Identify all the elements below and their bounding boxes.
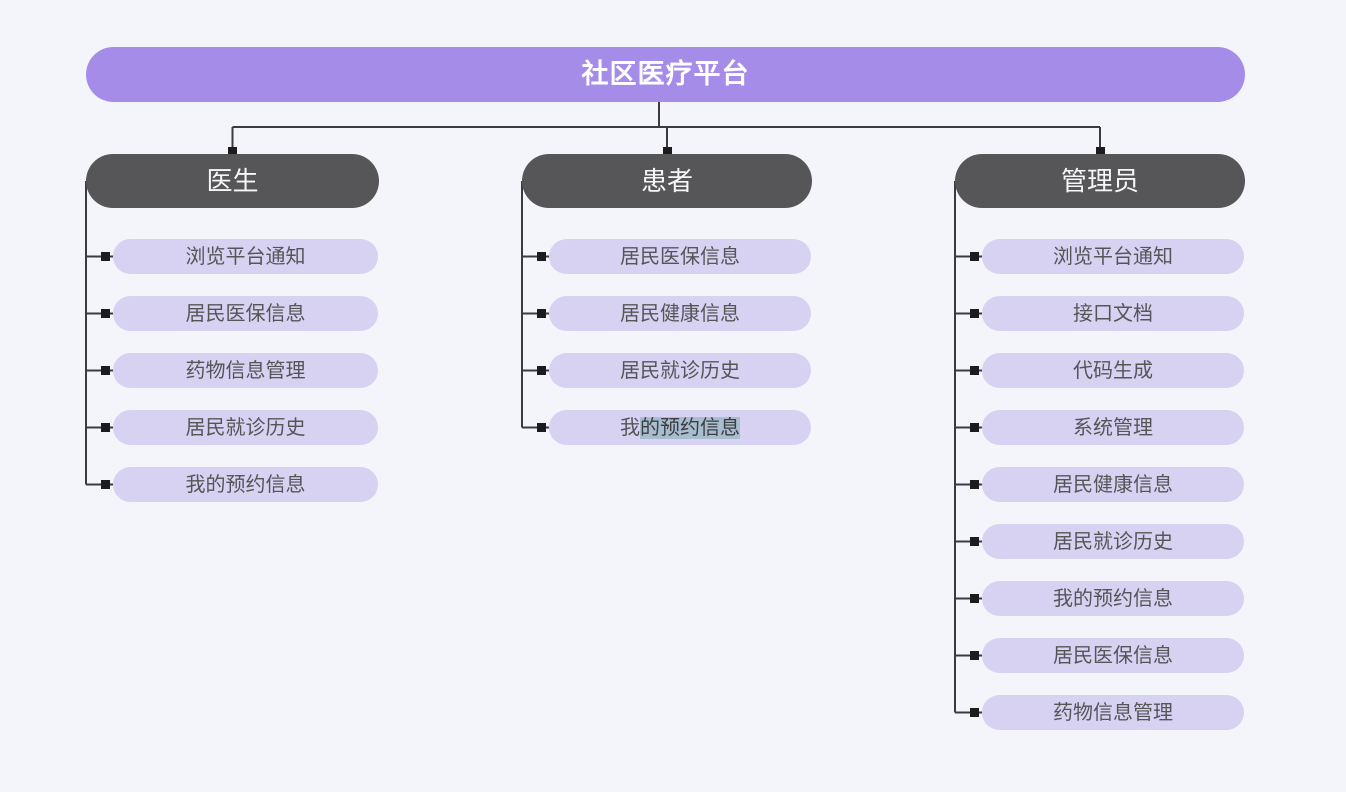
connector-endpoint-marker	[537, 423, 546, 432]
branch-node-label: 患者	[641, 168, 693, 194]
leaf-node[interactable]: 居民就诊历史	[982, 524, 1244, 559]
connector-endpoint-marker	[101, 309, 110, 318]
leaf-node-label: 接口文档	[1073, 304, 1153, 324]
connector-endpoint-marker	[970, 594, 979, 603]
connector-endpoint-marker	[537, 366, 546, 375]
leaf-node-label: 居民医保信息	[620, 247, 740, 267]
connector-lines	[0, 0, 1346, 792]
root-node-community-health-platform[interactable]: 社区医疗平台	[86, 47, 1245, 102]
leaf-node[interactable]: 药物信息管理	[113, 353, 378, 388]
connector-endpoint-marker	[970, 309, 979, 318]
connector-endpoint-marker	[101, 423, 110, 432]
leaf-node-label: 居民健康信息	[620, 304, 740, 324]
leaf-node-label: 系统管理	[1073, 418, 1153, 438]
leaf-node-label: 居民就诊历史	[620, 361, 740, 381]
branch-node-label: 医生	[206, 168, 258, 194]
leaf-node[interactable]: 我的预约信息	[113, 467, 378, 502]
connector-endpoint-marker	[970, 537, 979, 546]
leaf-node[interactable]: 代码生成	[982, 353, 1244, 388]
connector-endpoint-marker	[970, 480, 979, 489]
leaf-node[interactable]: 居民就诊历史	[549, 353, 811, 388]
leaf-node-label: 我的预约信息	[186, 475, 306, 495]
leaf-node[interactable]: 居民就诊历史	[113, 410, 378, 445]
leaf-node-label: 我的预约信息	[1053, 589, 1173, 609]
leaf-node[interactable]: 居民医保信息	[113, 296, 378, 331]
leaf-node[interactable]: 药物信息管理	[982, 695, 1244, 730]
leaf-node-label: 我的预约信息	[620, 418, 740, 438]
leaf-node[interactable]: 居民健康信息	[549, 296, 811, 331]
branch-node-doctor[interactable]: 医生	[86, 154, 379, 208]
connector-endpoint-marker	[970, 708, 979, 717]
leaf-node[interactable]: 我的预约信息	[982, 581, 1244, 616]
leaf-node-label: 药物信息管理	[1053, 703, 1173, 723]
leaf-node[interactable]: 居民健康信息	[982, 467, 1244, 502]
leaf-node-label: 药物信息管理	[186, 361, 306, 381]
leaf-node-label: 浏览平台通知	[186, 247, 306, 267]
branch-node-patient[interactable]: 患者	[522, 154, 812, 208]
connector-endpoint-marker	[537, 252, 546, 261]
leaf-node[interactable]: 居民医保信息	[982, 638, 1244, 673]
leaf-node[interactable]: 我的预约信息	[549, 410, 811, 445]
leaf-node-label: 居民医保信息	[1053, 646, 1173, 666]
connector-endpoint-marker	[970, 651, 979, 660]
leaf-node-label: 居民医保信息	[186, 304, 306, 324]
leaf-node-label: 代码生成	[1073, 361, 1153, 381]
leaf-node[interactable]: 浏览平台通知	[113, 239, 378, 274]
connector-endpoint-marker	[101, 366, 110, 375]
branch-node-admin[interactable]: 管理员	[955, 154, 1245, 208]
leaf-node[interactable]: 接口文档	[982, 296, 1244, 331]
connector-endpoint-marker	[537, 309, 546, 318]
root-node-label: 社区医疗平台	[582, 61, 750, 88]
leaf-node[interactable]: 系统管理	[982, 410, 1244, 445]
connector-endpoint-marker	[970, 423, 979, 432]
connector-endpoint-marker	[101, 252, 110, 261]
mindmap-diagram: 社区医疗平台 医生浏览平台通知居民医保信息药物信息管理居民就诊历史我的预约信息患…	[0, 0, 1346, 792]
connector-endpoint-marker	[970, 252, 979, 261]
leaf-node-label: 居民就诊历史	[186, 418, 306, 438]
leaf-node-label: 浏览平台通知	[1053, 247, 1173, 267]
leaf-node[interactable]: 居民医保信息	[549, 239, 811, 274]
connector-endpoint-marker	[970, 366, 979, 375]
branch-node-label: 管理员	[1061, 168, 1139, 194]
leaf-node-label: 居民健康信息	[1053, 475, 1173, 495]
connector-endpoint-marker	[101, 480, 110, 489]
text-selection-highlight: 的预约信息	[640, 417, 740, 439]
leaf-node[interactable]: 浏览平台通知	[982, 239, 1244, 274]
leaf-node-label: 居民就诊历史	[1053, 532, 1173, 552]
